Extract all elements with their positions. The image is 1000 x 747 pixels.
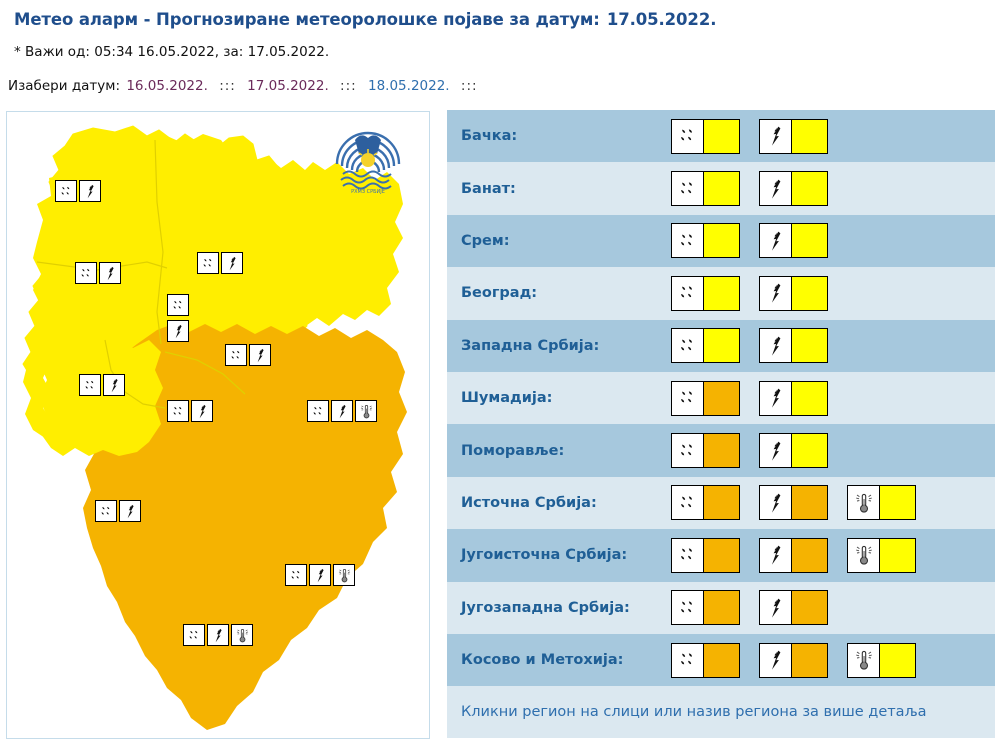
region-row-10[interactable]: Југозападна Србија: — [447, 582, 995, 634]
alert-thunderstorm-yellow[interactable] — [759, 119, 828, 154]
page-title-date: 17.05.2022. — [607, 10, 717, 29]
thunderstorm-icon — [764, 386, 788, 410]
region-row-9[interactable]: Југоисточна Србија: — [447, 529, 995, 581]
alert-level-swatch — [880, 539, 915, 572]
alert-rain-yellow[interactable] — [671, 171, 740, 206]
region-alert-list — [671, 433, 828, 468]
region-name-link[interactable]: Банат: — [461, 181, 671, 197]
alert-rain-yellow[interactable] — [671, 276, 740, 311]
region-alert-list — [671, 538, 916, 573]
map-rain-icon-cell — [183, 624, 205, 646]
region-row-4[interactable]: Београд: — [447, 267, 995, 319]
region-name-link[interactable]: Југоисточна Србија: — [461, 547, 671, 563]
map-badge-zapadna-srbija[interactable] — [79, 374, 125, 396]
region-name-link[interactable]: Шумадија: — [461, 390, 671, 406]
map-badge-sumadija[interactable] — [167, 400, 213, 422]
alert-thunderstorm-yellow[interactable] — [759, 433, 828, 468]
alert-level-swatch — [792, 382, 827, 415]
region-name-link[interactable]: Југозападна Србија: — [461, 600, 671, 616]
alert-level-swatch — [792, 120, 827, 153]
map-badge-pomoravlje[interactable] — [225, 344, 271, 366]
alert-level-swatch — [704, 644, 739, 677]
thunderstorm-icon — [170, 323, 187, 340]
thunderstorm-icon — [764, 177, 788, 201]
alert-level-swatch — [792, 591, 827, 624]
thunderstorm-icon — [764, 439, 788, 463]
rain-icon — [170, 403, 187, 420]
rain-icon-cell — [672, 120, 704, 153]
serbia-alert-map[interactable]: РХМЗ СРБИЈЕ — [6, 111, 430, 739]
region-row-7[interactable]: Поморавље: — [447, 424, 995, 476]
map-thunderstorm-icon-cell — [221, 252, 243, 274]
thunderstorm-icon-cell — [760, 644, 792, 677]
thunderstorm-icon — [764, 334, 788, 358]
alert-level-swatch — [880, 486, 915, 519]
rain-icon — [82, 377, 99, 394]
thunderstorm-icon — [764, 491, 788, 515]
thunderstorm-icon — [224, 255, 241, 272]
thunderstorm-icon — [764, 596, 788, 620]
thunderstorm-icon-cell — [760, 486, 792, 519]
region-name-link[interactable]: Бачка: — [461, 128, 671, 144]
rain-icon — [228, 347, 245, 364]
map-thunderstorm-icon-cell — [207, 624, 229, 646]
region-name-link[interactable]: Косово и Метохија: — [461, 652, 671, 668]
alert-level-swatch — [704, 224, 739, 257]
thunderstorm-icon — [764, 648, 788, 672]
alert-rain-orange[interactable] — [671, 381, 740, 416]
thunderstorm-icon — [334, 403, 351, 420]
map-rain-icon-cell — [95, 500, 117, 522]
date-separator-2: ::: — [340, 78, 357, 94]
high-temperature-icon — [234, 627, 251, 644]
thunderstorm-icon — [122, 503, 139, 520]
date-link-16[interactable]: 16.05.2022. — [126, 78, 208, 94]
map-high-temperature-icon-cell — [333, 564, 355, 586]
map-badge-backa[interactable] — [55, 180, 101, 202]
rhmz-serbia-logo: РХМЗ СРБИЈЕ — [329, 120, 407, 198]
region-alert-list — [671, 485, 916, 520]
alert-level-swatch — [704, 120, 739, 153]
map-badge-srem[interactable] — [75, 262, 121, 284]
region-alert-list — [671, 276, 828, 311]
region-row-1[interactable]: Бачка: — [447, 110, 995, 162]
main-content: РХМЗ СРБИЈЕ Бачка:Банат:Срем:Београд:Зап… — [0, 108, 1000, 747]
rain-icon — [676, 177, 700, 201]
rain-icon-cell — [672, 644, 704, 677]
region-alert-list — [671, 171, 828, 206]
rain-icon — [58, 183, 75, 200]
alert-level-swatch — [792, 329, 827, 362]
region-alert-list — [671, 590, 828, 625]
rain-icon — [310, 403, 327, 420]
alert-rain-yellow[interactable] — [671, 223, 740, 258]
map-badge-beograd-storm[interactable] — [167, 320, 189, 342]
alert-thunderstorm-yellow[interactable] — [759, 381, 828, 416]
alert-rain-yellow[interactable] — [671, 119, 740, 154]
map-rain-icon-cell — [285, 564, 307, 586]
date-picker: Изабери датум: 16.05.2022. ::: 17.05.202… — [8, 78, 483, 94]
map-rain-icon-cell — [167, 294, 189, 316]
logo-caption: РХМЗ СРБИЈЕ — [351, 189, 385, 195]
alert-level-swatch — [704, 591, 739, 624]
high-temperature-icon — [852, 543, 876, 567]
map-thunderstorm-icon-cell — [99, 262, 121, 284]
map-rain-icon-cell — [55, 180, 77, 202]
rain-icon — [288, 567, 305, 584]
rain-icon — [676, 543, 700, 567]
rain-icon — [676, 648, 700, 672]
alert-level-swatch — [792, 434, 827, 467]
alert-level-swatch — [704, 434, 739, 467]
thunderstorm-icon — [764, 281, 788, 305]
thunderstorm-icon-cell — [760, 120, 792, 153]
alert-level-swatch — [792, 224, 827, 257]
rain-icon — [200, 255, 217, 272]
map-rain-icon-cell — [75, 262, 97, 284]
map-thunderstorm-icon-cell — [191, 400, 213, 422]
date-link-17[interactable]: 17.05.2022. — [247, 78, 329, 94]
page-title-text: Метео аларм - Прогнозиране метеоролошке … — [14, 10, 600, 29]
region-name-link[interactable]: Срем: — [461, 233, 671, 249]
high-temperature-icon — [852, 648, 876, 672]
rain-icon — [186, 627, 203, 644]
region-row-5[interactable]: Западна Србија: — [447, 320, 995, 372]
map-rain-icon-cell — [307, 400, 329, 422]
alert-high-temperature-yellow[interactable] — [847, 485, 916, 520]
date-link-18[interactable]: 18.05.2022. — [368, 78, 450, 94]
rain-icon-cell — [672, 434, 704, 467]
alert-level-swatch — [704, 382, 739, 415]
thunderstorm-icon — [764, 543, 788, 567]
rain-icon — [676, 491, 700, 515]
rain-icon-cell — [672, 382, 704, 415]
high-temperature-icon-cell — [848, 644, 880, 677]
map-thunderstorm-icon-cell — [331, 400, 353, 422]
date-separator-1: ::: — [219, 78, 236, 94]
region-alert-list — [671, 223, 828, 258]
alert-level-swatch — [792, 539, 827, 572]
thunderstorm-icon — [102, 265, 119, 282]
map-thunderstorm-icon-cell — [167, 320, 189, 342]
rain-icon — [676, 124, 700, 148]
alert-rain-orange[interactable] — [671, 433, 740, 468]
region-name-link[interactable]: Београд: — [461, 285, 671, 301]
map-thunderstorm-icon-cell — [119, 500, 141, 522]
map-thunderstorm-icon-cell — [309, 564, 331, 586]
region-row-3[interactable]: Срем: — [447, 215, 995, 267]
region-alert-list — [671, 328, 828, 363]
alert-level-swatch — [704, 277, 739, 310]
region-name-link[interactable]: Источна Србија: — [461, 495, 671, 511]
thunderstorm-icon-cell — [760, 591, 792, 624]
map-west-lobe — [23, 352, 53, 438]
map-badge-kosovo-i-metohija[interactable] — [183, 624, 253, 646]
map-badge-beograd-rain[interactable] — [167, 294, 189, 316]
region-name-link[interactable]: Поморавље: — [461, 443, 671, 459]
alert-thunderstorm-orange[interactable] — [759, 643, 828, 678]
rain-icon — [170, 297, 187, 314]
map-thunderstorm-icon-cell — [103, 374, 125, 396]
map-badge-jugoistocna-srbija[interactable] — [285, 564, 355, 586]
thunderstorm-icon-cell — [760, 539, 792, 572]
alert-level-swatch — [792, 644, 827, 677]
rain-icon — [78, 265, 95, 282]
thunderstorm-icon-cell — [760, 382, 792, 415]
thunderstorm-icon — [764, 229, 788, 253]
rain-icon — [676, 334, 700, 358]
alert-level-swatch — [704, 539, 739, 572]
rain-icon — [676, 386, 700, 410]
map-badge-jugozapadna-srbija[interactable] — [95, 500, 141, 522]
map-high-temperature-icon-cell — [231, 624, 253, 646]
alert-level-swatch — [704, 486, 739, 519]
validity-note: * Важи од: 05:34 16.05.2022, за: 17.05.2… — [14, 44, 329, 60]
map-badge-banat[interactable] — [197, 252, 243, 274]
alert-thunderstorm-orange[interactable] — [759, 485, 828, 520]
thunderstorm-icon — [764, 124, 788, 148]
rain-icon-cell — [672, 329, 704, 362]
map-rain-icon-cell — [225, 344, 247, 366]
rain-icon — [676, 281, 700, 305]
rain-icon-cell — [672, 224, 704, 257]
map-west-yellow — [37, 336, 163, 456]
rain-icon-cell — [672, 277, 704, 310]
logo-graphic: РХМЗ СРБИЈЕ — [329, 120, 407, 198]
rain-icon-cell — [672, 172, 704, 205]
thunderstorm-icon — [106, 377, 123, 394]
alert-thunderstorm-yellow[interactable] — [759, 223, 828, 258]
alert-rain-orange[interactable] — [671, 590, 740, 625]
thunderstorm-icon — [252, 347, 269, 364]
alert-high-temperature-yellow[interactable] — [847, 538, 916, 573]
rain-icon-cell — [672, 591, 704, 624]
region-alert-list — [671, 381, 828, 416]
map-rain-icon-cell — [79, 374, 101, 396]
alert-level-swatch — [704, 172, 739, 205]
thunderstorm-icon — [312, 567, 329, 584]
thunderstorm-icon-cell — [760, 329, 792, 362]
map-badge-istocna-srbija[interactable] — [307, 400, 377, 422]
page-title: Метео аларм - Прогнозиране метеоролошке … — [14, 10, 716, 29]
thunderstorm-icon-cell — [760, 277, 792, 310]
map-thunderstorm-icon-cell — [249, 344, 271, 366]
alert-rain-orange[interactable] — [671, 538, 740, 573]
alert-rain-orange[interactable] — [671, 485, 740, 520]
region-alert-list — [671, 119, 828, 154]
table-footer: Кликни регион на слици или назив региона… — [447, 686, 995, 738]
thunderstorm-icon-cell — [760, 224, 792, 257]
alert-thunderstorm-yellow[interactable] — [759, 328, 828, 363]
map-rain-icon-cell — [167, 400, 189, 422]
alert-thunderstorm-yellow[interactable] — [759, 276, 828, 311]
alert-level-swatch — [704, 329, 739, 362]
alert-level-swatch — [792, 277, 827, 310]
alert-rain-orange[interactable] — [671, 643, 740, 678]
region-row-6[interactable]: Шумадија: — [447, 372, 995, 424]
region-alert-list — [671, 643, 916, 678]
high-temperature-icon — [358, 403, 375, 420]
rain-icon — [98, 503, 115, 520]
alert-level-swatch — [792, 486, 827, 519]
rain-icon-cell — [672, 486, 704, 519]
high-temperature-icon — [852, 491, 876, 515]
rain-icon — [676, 439, 700, 463]
region-row-11[interactable]: Косово и Метохија: — [447, 634, 995, 686]
region-name-link[interactable]: Западна Србија: — [461, 338, 671, 354]
date-separator-3: ::: — [461, 78, 478, 94]
rain-icon — [676, 596, 700, 620]
thunderstorm-icon — [194, 403, 211, 420]
map-high-temperature-icon-cell — [355, 400, 377, 422]
high-temperature-icon-cell — [848, 539, 880, 572]
high-temperature-icon-cell — [848, 486, 880, 519]
page-header: Метео аларм - Прогнозиране метеоролошке … — [0, 0, 1000, 108]
map-rain-icon-cell — [197, 252, 219, 274]
thunderstorm-icon-cell — [760, 434, 792, 467]
region-alert-table: Бачка:Банат:Срем:Београд:Западна Србија:… — [447, 110, 995, 738]
rain-icon-cell — [672, 539, 704, 572]
alert-high-temperature-yellow[interactable] — [847, 643, 916, 678]
alert-thunderstorm-orange[interactable] — [759, 590, 828, 625]
date-picker-label: Изабери датум: — [8, 78, 120, 94]
thunderstorm-icon — [82, 183, 99, 200]
alert-thunderstorm-yellow[interactable] — [759, 171, 828, 206]
region-row-2[interactable]: Банат: — [447, 162, 995, 214]
high-temperature-icon — [336, 567, 353, 584]
map-thunderstorm-icon-cell — [79, 180, 101, 202]
alert-level-swatch — [792, 172, 827, 205]
region-row-8[interactable]: Источна Србија: — [447, 477, 995, 529]
alert-thunderstorm-orange[interactable] — [759, 538, 828, 573]
rain-icon — [676, 229, 700, 253]
alert-level-swatch — [880, 644, 915, 677]
footer-note: Кликни регион на слици или назив региона… — [461, 704, 927, 720]
thunderstorm-icon-cell — [760, 172, 792, 205]
thunderstorm-icon — [210, 627, 227, 644]
alert-rain-yellow[interactable] — [671, 328, 740, 363]
